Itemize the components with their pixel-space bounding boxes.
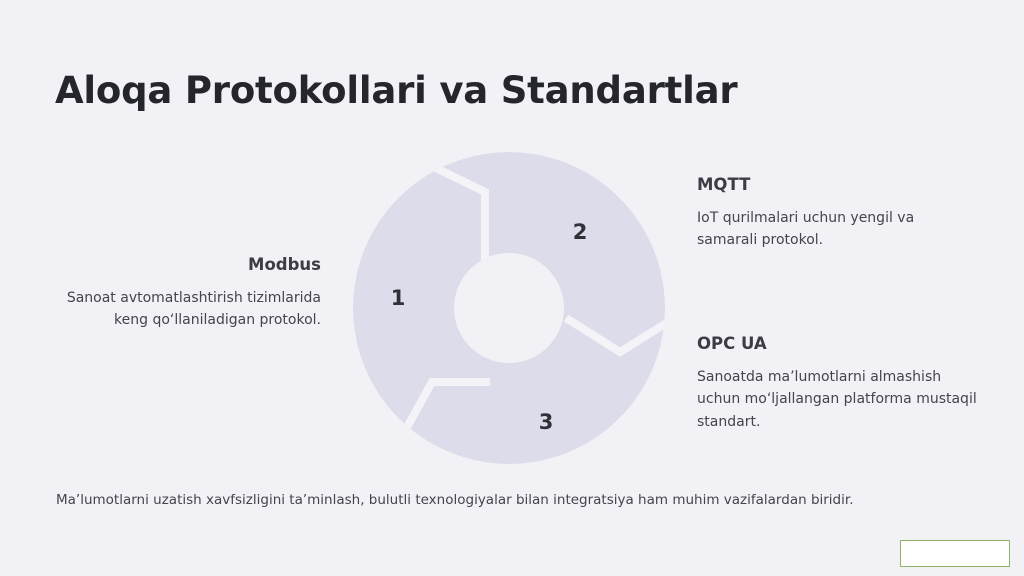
block-opcua: OPC UA Sanoatda ma’lumotlarni almashish …: [697, 334, 982, 434]
donut-segment-number-1: 1: [391, 286, 406, 310]
donut-segment-number-3: 3: [539, 410, 554, 434]
bottom-right-input-box[interactable]: [900, 540, 1010, 567]
block-modbus-heading: Modbus: [58, 255, 321, 275]
block-mqtt-body: IoT qurilmalari uchun yengil va samarali…: [697, 207, 977, 252]
block-mqtt-heading: MQTT: [697, 175, 977, 195]
block-opcua-heading: OPC UA: [697, 334, 982, 354]
block-mqtt: MQTT IoT qurilmalari uchun yengil va sam…: [697, 175, 977, 252]
page-title: Aloqa Protokollari va Standartlar: [55, 70, 955, 113]
block-opcua-body: Sanoatda ma’lumotlarni almashish uchun m…: [697, 366, 982, 434]
block-modbus: Modbus Sanoat avtomatlashtirish tizimlar…: [58, 255, 321, 332]
block-modbus-body: Sanoat avtomatlashtirish tizimlarida ken…: [58, 287, 321, 332]
donut-diagram: 1 2 3: [340, 140, 680, 480]
slide-root: Aloqa Protokollari va Standartlar: [0, 0, 1024, 576]
footnote-text: Ma’lumotlarni uzatish xavfsizligini ta’m…: [56, 490, 986, 510]
donut-segment-number-2: 2: [573, 220, 588, 244]
donut-svg: 1 2 3: [340, 140, 680, 480]
